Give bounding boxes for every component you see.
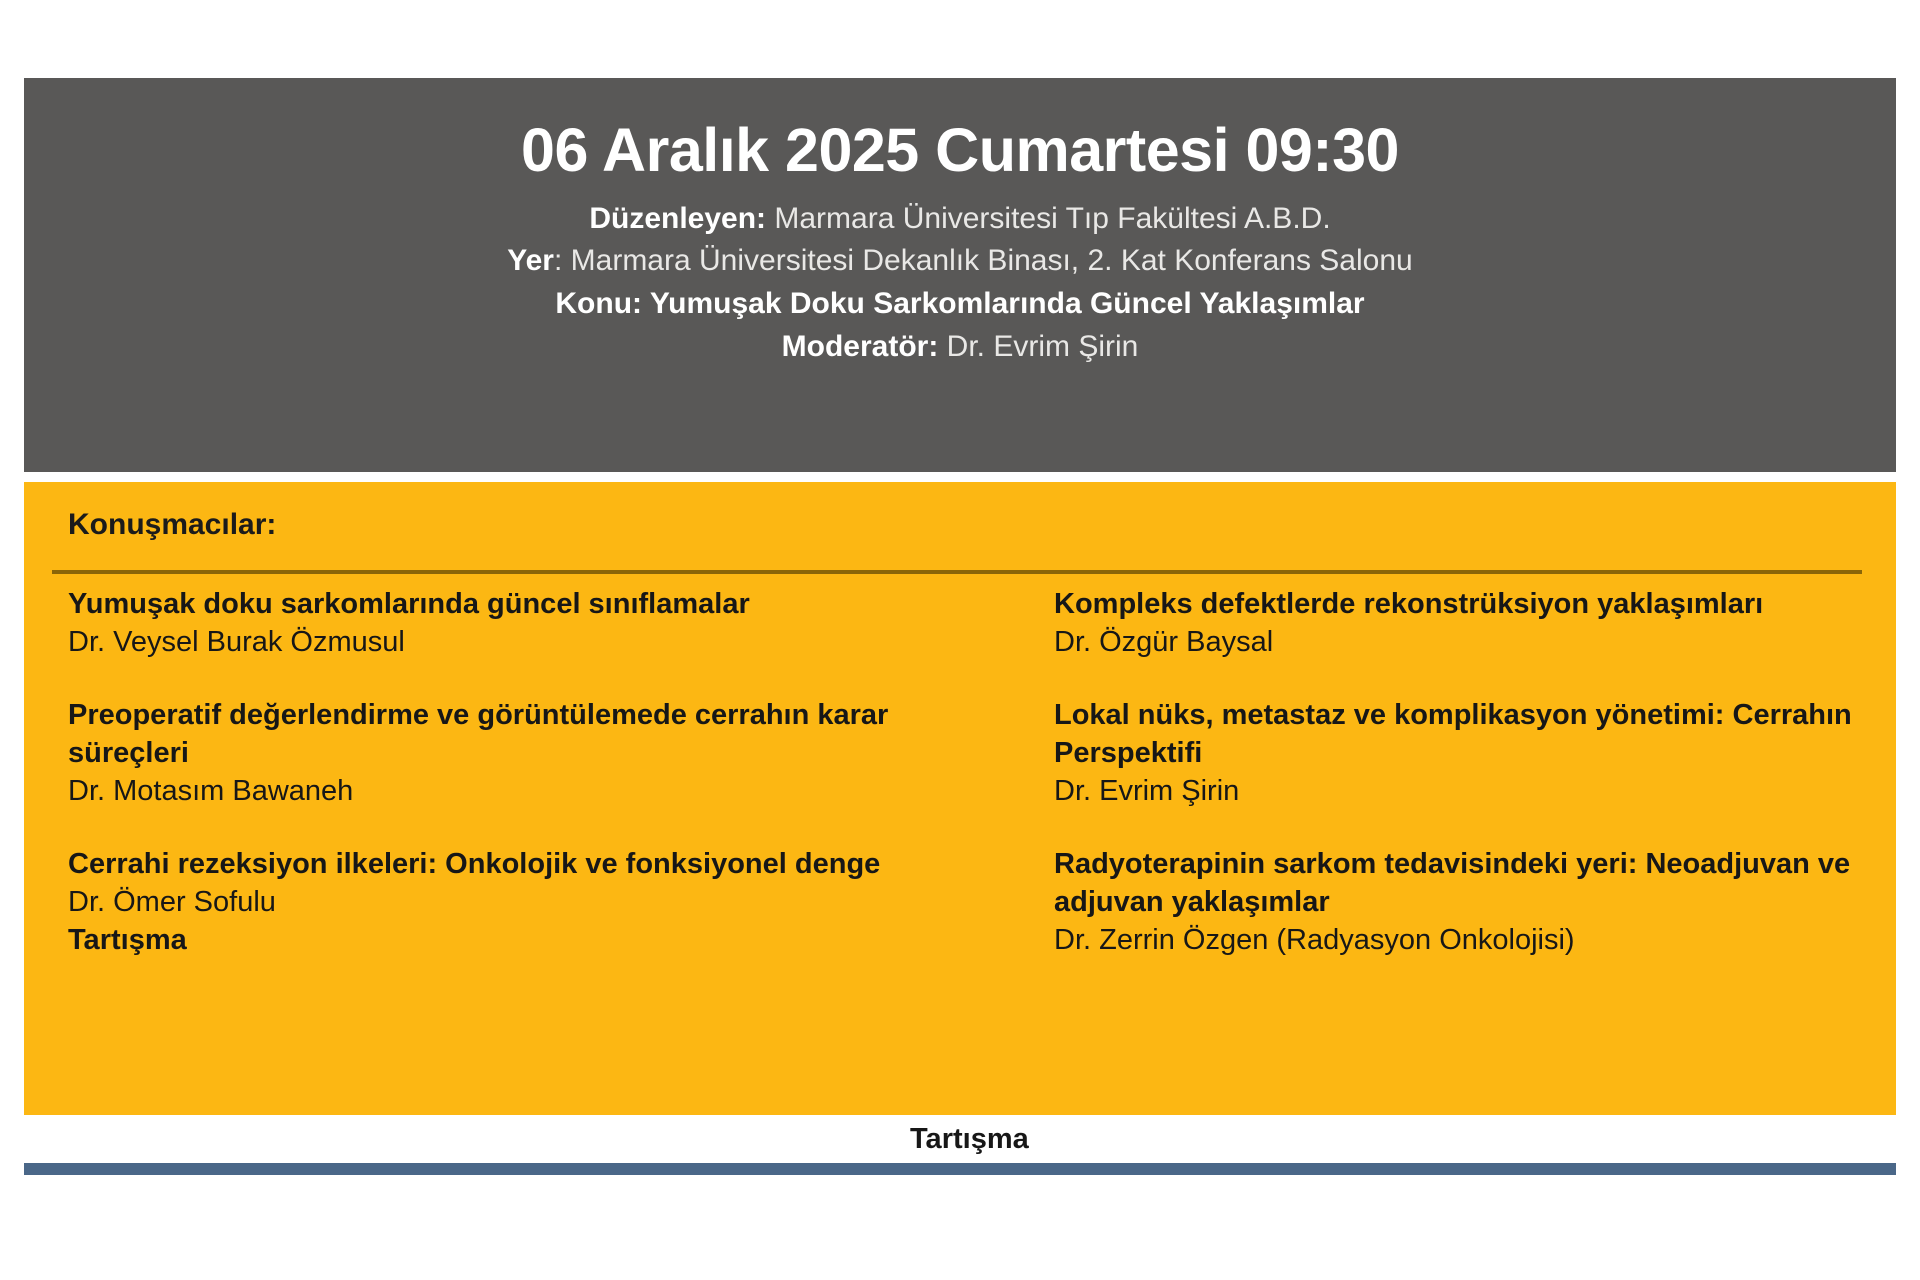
venue-label: Yer — [507, 244, 554, 277]
speakers-heading: Konuşmacılar: — [68, 508, 276, 542]
header-line-subject: Konu: Yumuşak Doku Sarkomlarında Güncel … — [64, 283, 1856, 326]
talk-discussion-note: Tartışma — [910, 1123, 1029, 1155]
header-line-organizer: Düzenleyen: Marmara Üniversitesi Tıp Fak… — [64, 198, 1856, 241]
talk-title: Cerrahi rezeksiyon ilkeleri: Onkolojik v… — [68, 846, 1006, 884]
header-body-divider — [24, 472, 1896, 482]
talk-title: Radyoterapinin sarkom tedavisindeki yeri… — [1054, 846, 1876, 921]
organizer-label: Düzenleyen: — [589, 202, 766, 235]
event-poster: 06 Aralık 2025 Cumartesi 09:30 Düzenleye… — [0, 0, 1920, 1280]
speakers-column-left: Yumuşak doku sarkomlarında güncel sınıfl… — [24, 586, 1032, 960]
header-line-venue: Yer: Marmara Üniversitesi Dekanlık Binas… — [64, 240, 1856, 283]
header-band: 06 Aralık 2025 Cumartesi 09:30 Düzenleye… — [24, 78, 1896, 472]
talk-speaker: Dr. Veysel Burak Özmusul — [68, 624, 1006, 662]
subject-label: Konu: Yumuşak Doku Sarkomlarında Güncel … — [555, 287, 1364, 320]
talk-item: Kompleks defektlerde rekonstrüksiyon yak… — [1054, 586, 1876, 661]
talk-item: Preoperatif değerlendirme ve görüntüleme… — [68, 697, 1006, 810]
talk-item: Radyoterapinin sarkom tedavisindeki yeri… — [1054, 846, 1876, 959]
talk-speaker: Dr. Ömer Sofulu — [68, 884, 1006, 922]
speakers-column-right: Kompleks defektlerde rekonstrüksiyon yak… — [1032, 586, 1896, 960]
page-title: 06 Aralık 2025 Cumartesi 09:30 — [64, 118, 1856, 184]
talk-speaker: Dr. Motasım Bawaneh — [68, 773, 1006, 811]
talk-item: Cerrahi rezeksiyon ilkeleri: Onkolojik v… — [68, 846, 1006, 959]
header-line-moderator: Moderatör: Dr. Evrim Şirin — [64, 326, 1856, 369]
speakers-columns: Yumuşak doku sarkomlarında güncel sınıfl… — [24, 586, 1896, 960]
talk-title: Preoperatif değerlendirme ve görüntüleme… — [68, 697, 1006, 772]
talk-title: Kompleks defektlerde rekonstrüksiyon yak… — [1054, 586, 1876, 624]
right-column-overflow: Tartışma — [24, 1115, 1896, 1163]
talk-speaker: Dr. Zerrin Özgen (Radyasyon Onkolojisi) — [1054, 922, 1876, 960]
venue-value: : Marmara Üniversitesi Dekanlık Binası, … — [554, 244, 1413, 277]
talk-title: Lokal nüks, metastaz ve komplikasyon yön… — [1054, 697, 1876, 772]
talk-item: Lokal nüks, metastaz ve komplikasyon yön… — [1054, 697, 1876, 810]
talk-item: Yumuşak doku sarkomlarında güncel sınıfl… — [68, 586, 1006, 661]
moderator-value: Dr. Evrim Şirin — [938, 330, 1138, 363]
talk-discussion-note: Tartışma — [68, 922, 1006, 960]
heading-rule — [52, 570, 1862, 574]
bottom-margin — [0, 1175, 1920, 1280]
bottom-accent-bar — [24, 1163, 1896, 1175]
moderator-label: Moderatör: — [782, 330, 939, 363]
talk-speaker: Dr. Evrim Şirin — [1054, 773, 1876, 811]
talk-title: Yumuşak doku sarkomlarında güncel sınıfl… — [68, 586, 1006, 624]
top-margin — [0, 0, 1920, 78]
organizer-value: Marmara Üniversitesi Tıp Fakültesi A.B.D… — [766, 202, 1331, 235]
talk-speaker: Dr. Özgür Baysal — [1054, 624, 1876, 662]
speakers-panel: Konuşmacılar: Yumuşak doku sarkomlarında… — [24, 482, 1896, 1115]
